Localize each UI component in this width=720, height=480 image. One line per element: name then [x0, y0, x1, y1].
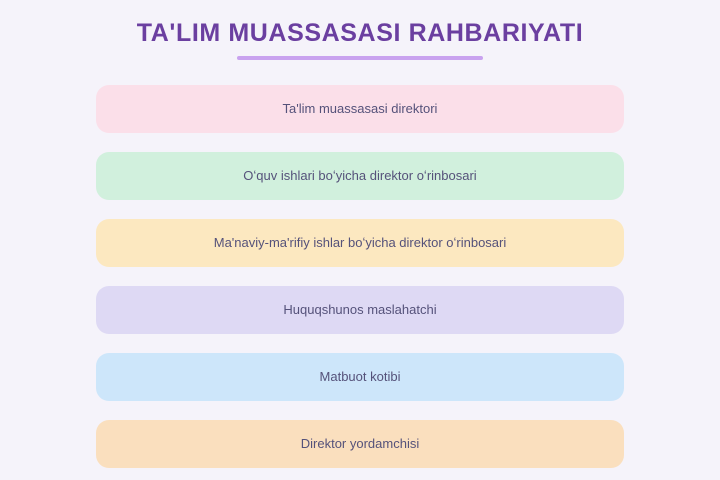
role-card-legal-advisor[interactable]: Huquqshunos maslahatchi	[96, 286, 624, 334]
role-card-director-assistant[interactable]: Direktor yordamchisi	[96, 420, 624, 468]
title-underline-decoration	[237, 56, 483, 60]
role-card-label: Oʻquv ishlari boʻyicha direktor oʻrinbos…	[243, 168, 476, 184]
role-card-press-secretary[interactable]: Matbuot kotibi	[96, 353, 624, 401]
role-card-label: Ma'naviy-ma'rifiy ishlar boʻyicha direkt…	[214, 235, 507, 251]
organization-leadership-page: TA'LIM MUASSASASI RAHBARIYATI Ta'lim mua…	[0, 0, 720, 480]
role-card-label: Matbuot kotibi	[320, 369, 401, 385]
role-card-label: Direktor yordamchisi	[301, 436, 419, 452]
role-card-deputy-academic[interactable]: Oʻquv ishlari boʻyicha direktor oʻrinbos…	[96, 152, 624, 200]
page-header: TA'LIM MUASSASASI RAHBARIYATI	[0, 18, 720, 60]
role-card-label: Ta'lim muassasasi direktori	[283, 101, 438, 117]
role-card-label: Huquqshunos maslahatchi	[283, 302, 436, 318]
role-card-director[interactable]: Ta'lim muassasasi direktori	[96, 85, 624, 133]
role-card-deputy-spiritual[interactable]: Ma'naviy-ma'rifiy ishlar boʻyicha direkt…	[96, 219, 624, 267]
leadership-role-list: Ta'lim muassasasi direktori Oʻquv ishlar…	[96, 85, 624, 468]
page-title: TA'LIM MUASSASASI RAHBARIYATI	[0, 18, 720, 48]
